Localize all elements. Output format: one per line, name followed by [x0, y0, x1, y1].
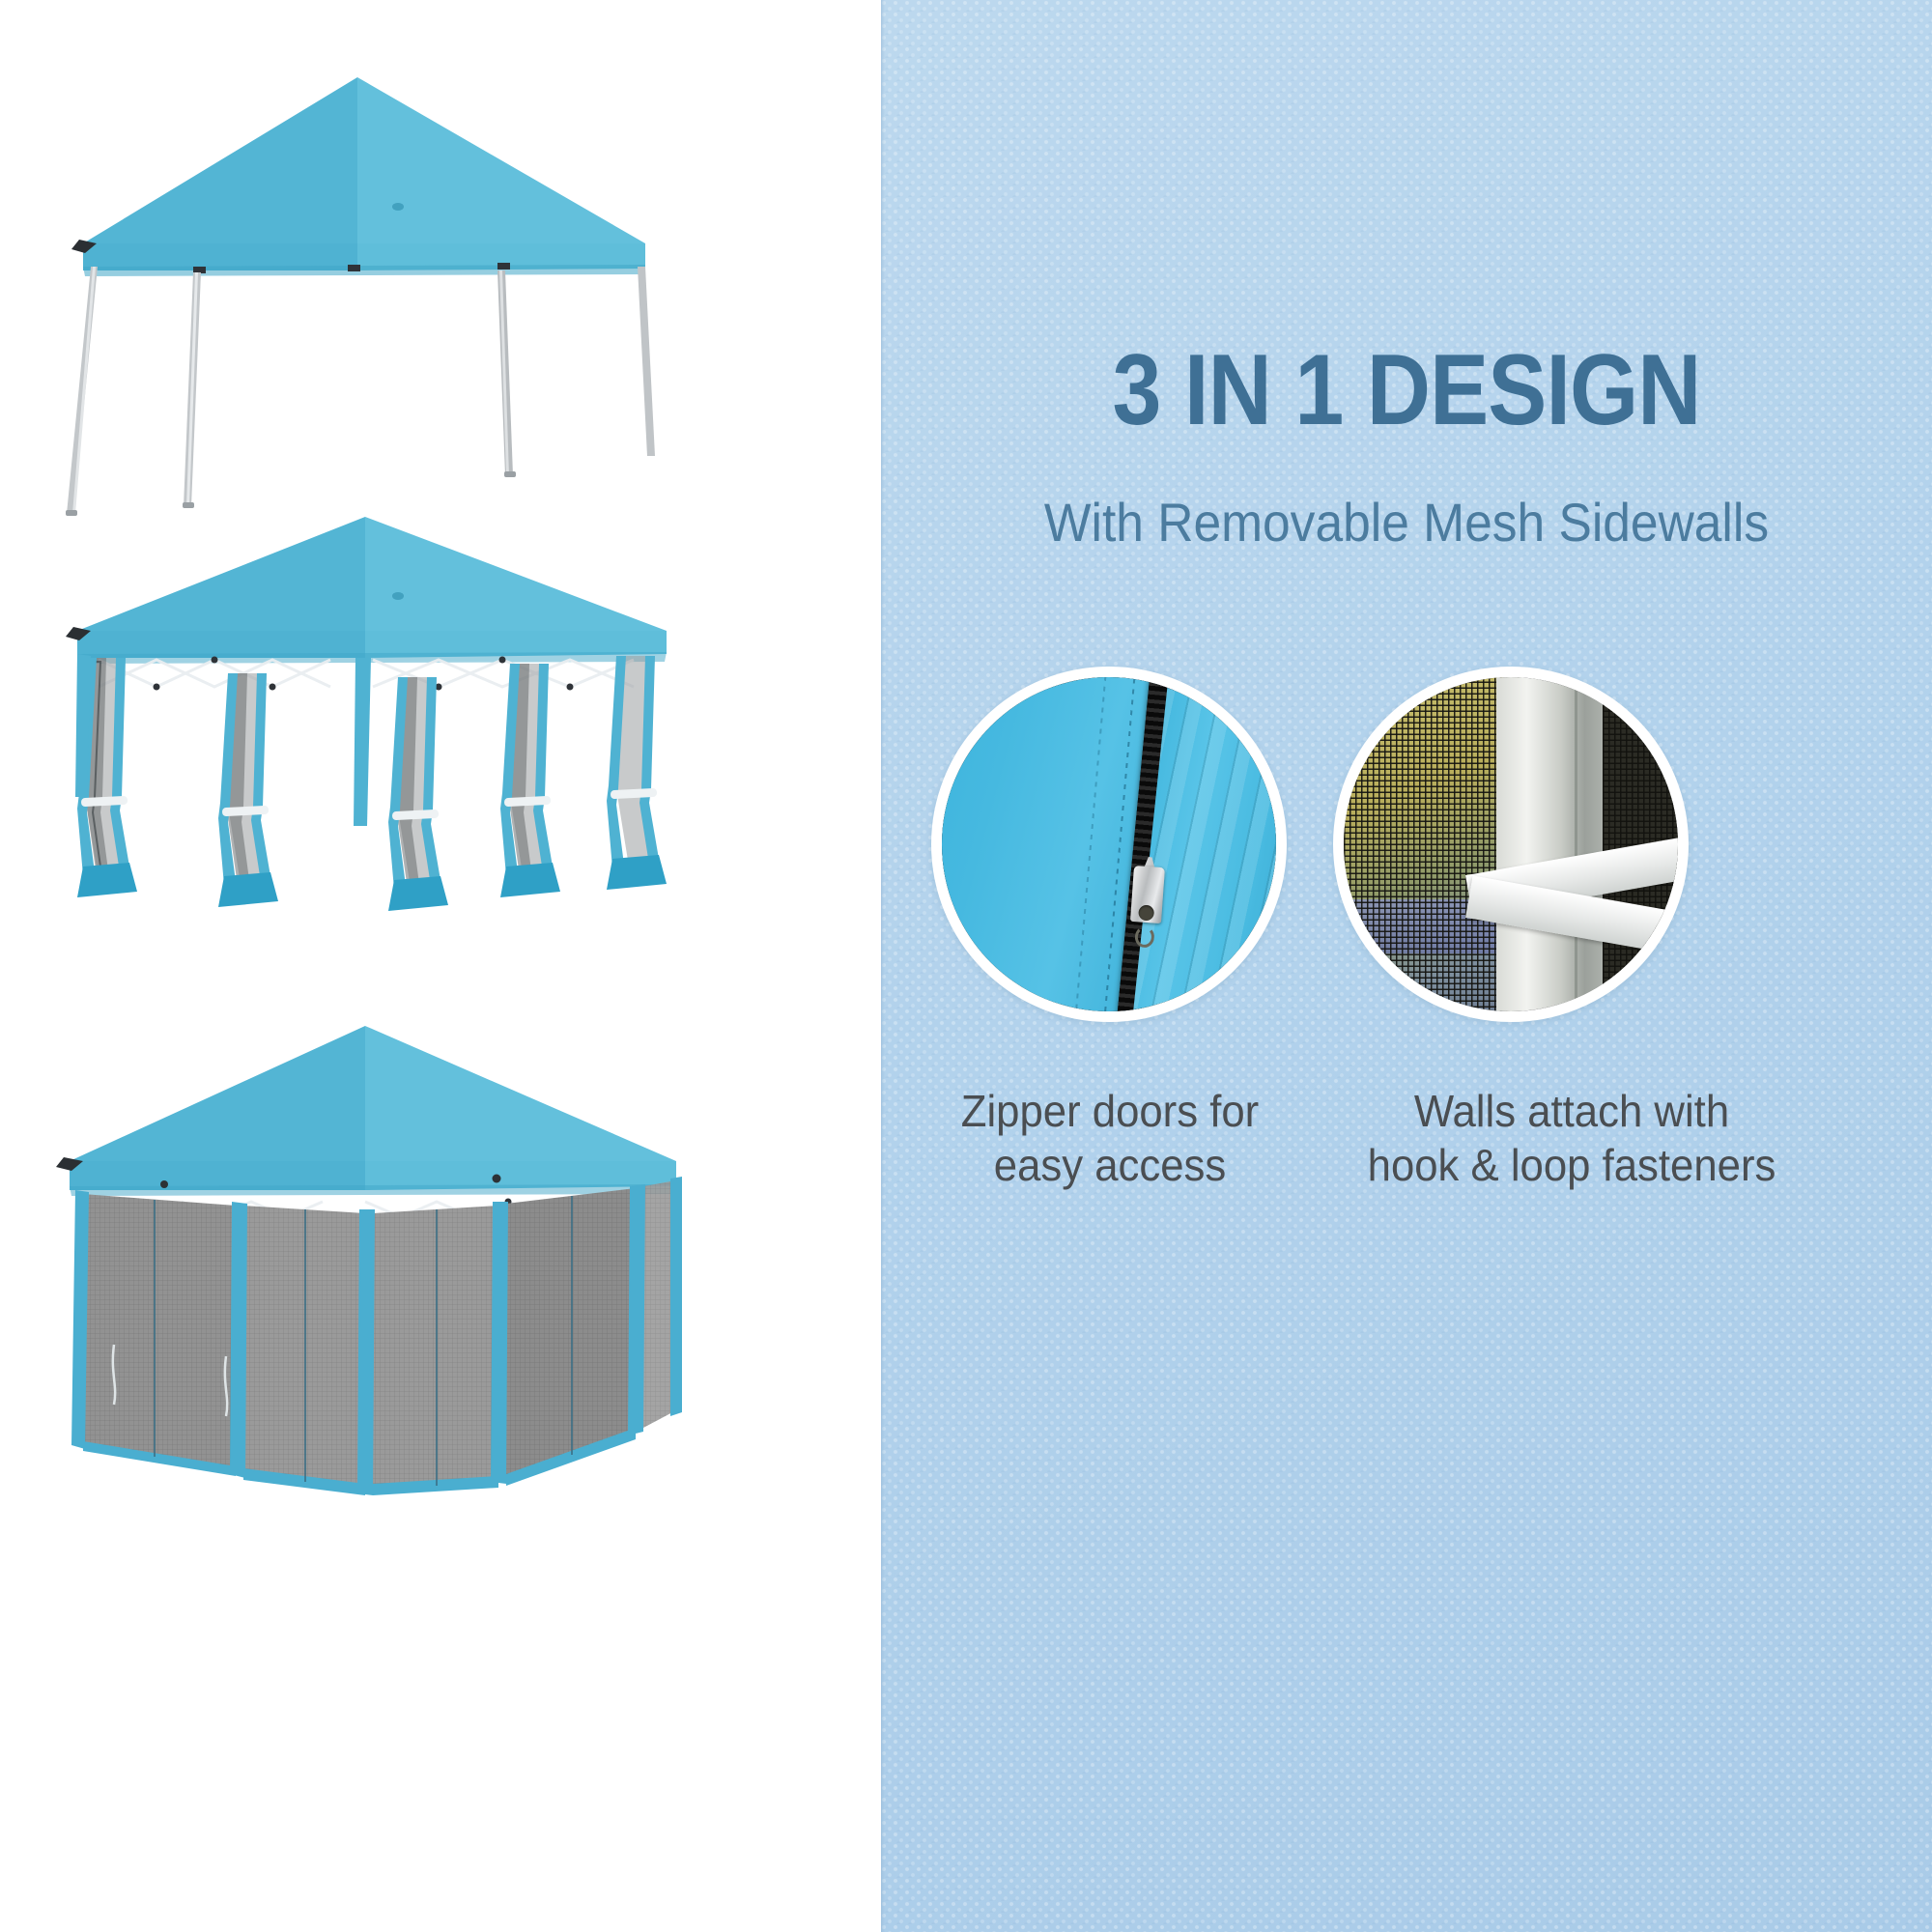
- caption-zipper-line1: Zipper doors for: [895, 1084, 1326, 1138]
- gazebo-canopy-only: [58, 60, 657, 543]
- product-infographic-page: 3 IN 1 DESIGN With Removable Mesh Sidewa…: [0, 0, 1932, 1932]
- caption-zipper-line2: easy access: [895, 1138, 1326, 1192]
- page-subtitle: With Removable Mesh Sidewalls: [923, 493, 1890, 553]
- hook-loop-detail-photo: [1333, 667, 1689, 1022]
- hook-loop-photo-inner: [1344, 677, 1678, 1011]
- gazebo-mesh-closed-svg: [46, 995, 684, 1536]
- gazebo-mesh-tied-back: [48, 507, 676, 961]
- caption-zipper-door: Zipper doors for easy access: [895, 1084, 1326, 1192]
- gazebo-mesh-closed: [46, 995, 684, 1536]
- caption-hookloop-line1: Walls attach with: [1356, 1084, 1788, 1138]
- caption-hook-loop: Walls attach with hook & loop fasteners: [1356, 1084, 1788, 1192]
- hook-loop-strap: [1467, 849, 1678, 965]
- marketing-panel: 3 IN 1 DESIGN With Removable Mesh Sidewa…: [881, 0, 1932, 1932]
- gazebo-mesh-tied-back-svg: [48, 507, 676, 961]
- zipper-pull-ring: [1134, 925, 1154, 948]
- zipper-pull-icon: [1124, 866, 1169, 952]
- zipper-detail-photo: [931, 667, 1287, 1022]
- gazebo-canopy-only-svg: [58, 60, 657, 543]
- feature-photos-row: [881, 667, 1932, 1053]
- page-title: 3 IN 1 DESIGN: [944, 340, 1868, 440]
- zipper-photo-inner: [942, 677, 1276, 1011]
- product-views-column: [0, 0, 881, 1932]
- caption-hookloop-line2: hook & loop fasteners: [1356, 1138, 1788, 1192]
